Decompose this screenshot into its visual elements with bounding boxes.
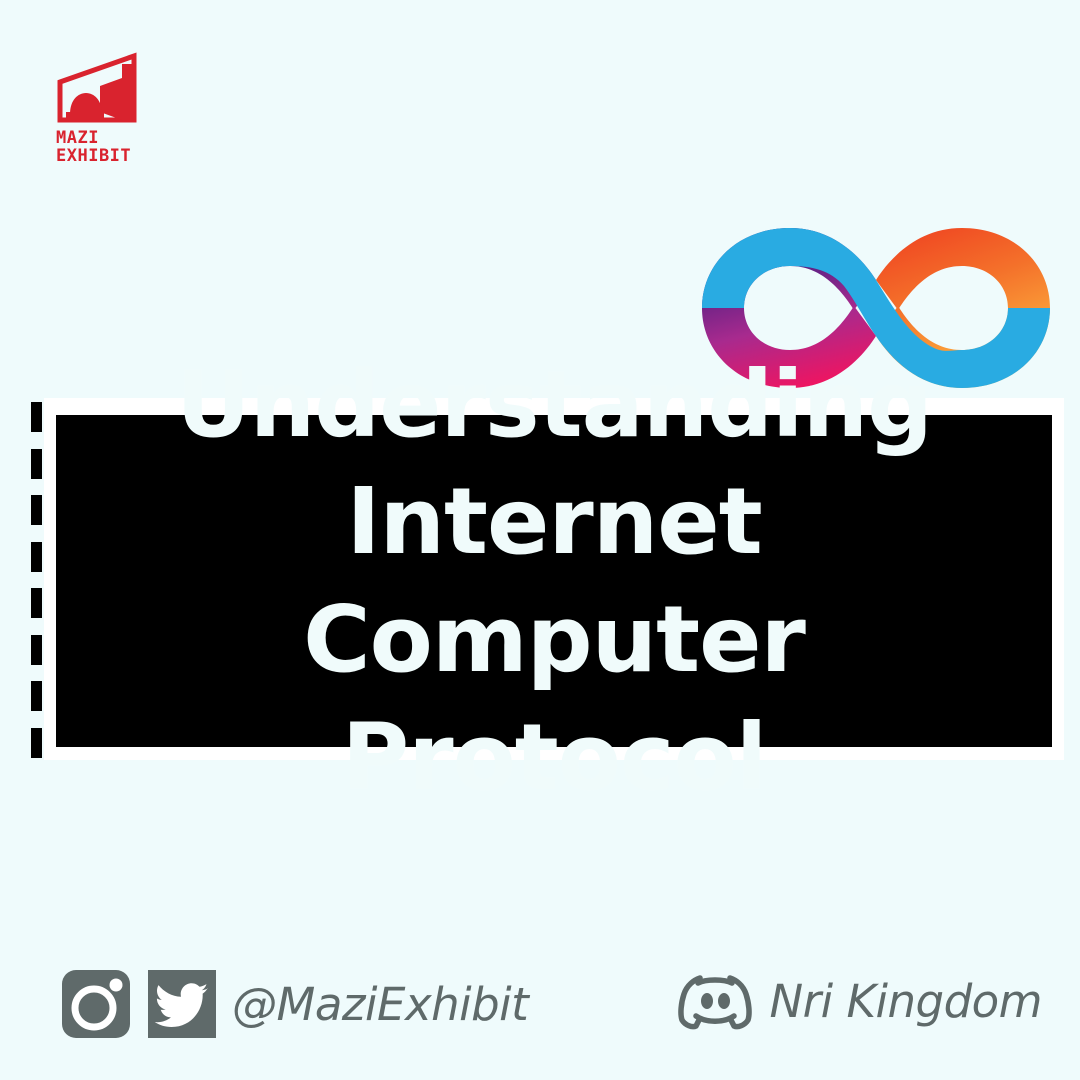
twitter-icon[interactable] (146, 968, 218, 1040)
accent-dash (31, 728, 42, 758)
accent-dash (31, 402, 42, 432)
mazi-exhibit-pavilion-logo (56, 52, 148, 124)
title-frame: Understanding Internet Computer Protocol (44, 398, 1064, 760)
brand-name: MAZI EXHIBIT (56, 130, 176, 166)
footer-social-group: @MaziExhibit (60, 968, 528, 1040)
accent-dash (31, 449, 42, 479)
accent-dash (31, 588, 42, 618)
accent-dash (31, 681, 42, 711)
poster-canvas: MAZI EXHIBIT (0, 0, 1080, 1080)
discord-icon[interactable] (674, 968, 756, 1034)
accent-dash (31, 542, 42, 572)
accent-dash (31, 635, 42, 665)
social-handle: @MaziExhibit (232, 978, 528, 1031)
instagram-icon[interactable] (60, 968, 132, 1040)
community-name: Nri Kingdom (770, 975, 1043, 1028)
title-plate: Understanding Internet Computer Protocol (56, 415, 1052, 747)
brand-logo: MAZI EXHIBIT (56, 52, 176, 166)
title-accent-dashes (31, 402, 42, 758)
footer: @MaziExhibit Nri Kingdom (0, 960, 1080, 1070)
page-title: Understanding Internet Computer Protocol (56, 346, 1052, 817)
footer-community-group: Nri Kingdom (674, 968, 1043, 1034)
accent-dash (31, 495, 42, 525)
